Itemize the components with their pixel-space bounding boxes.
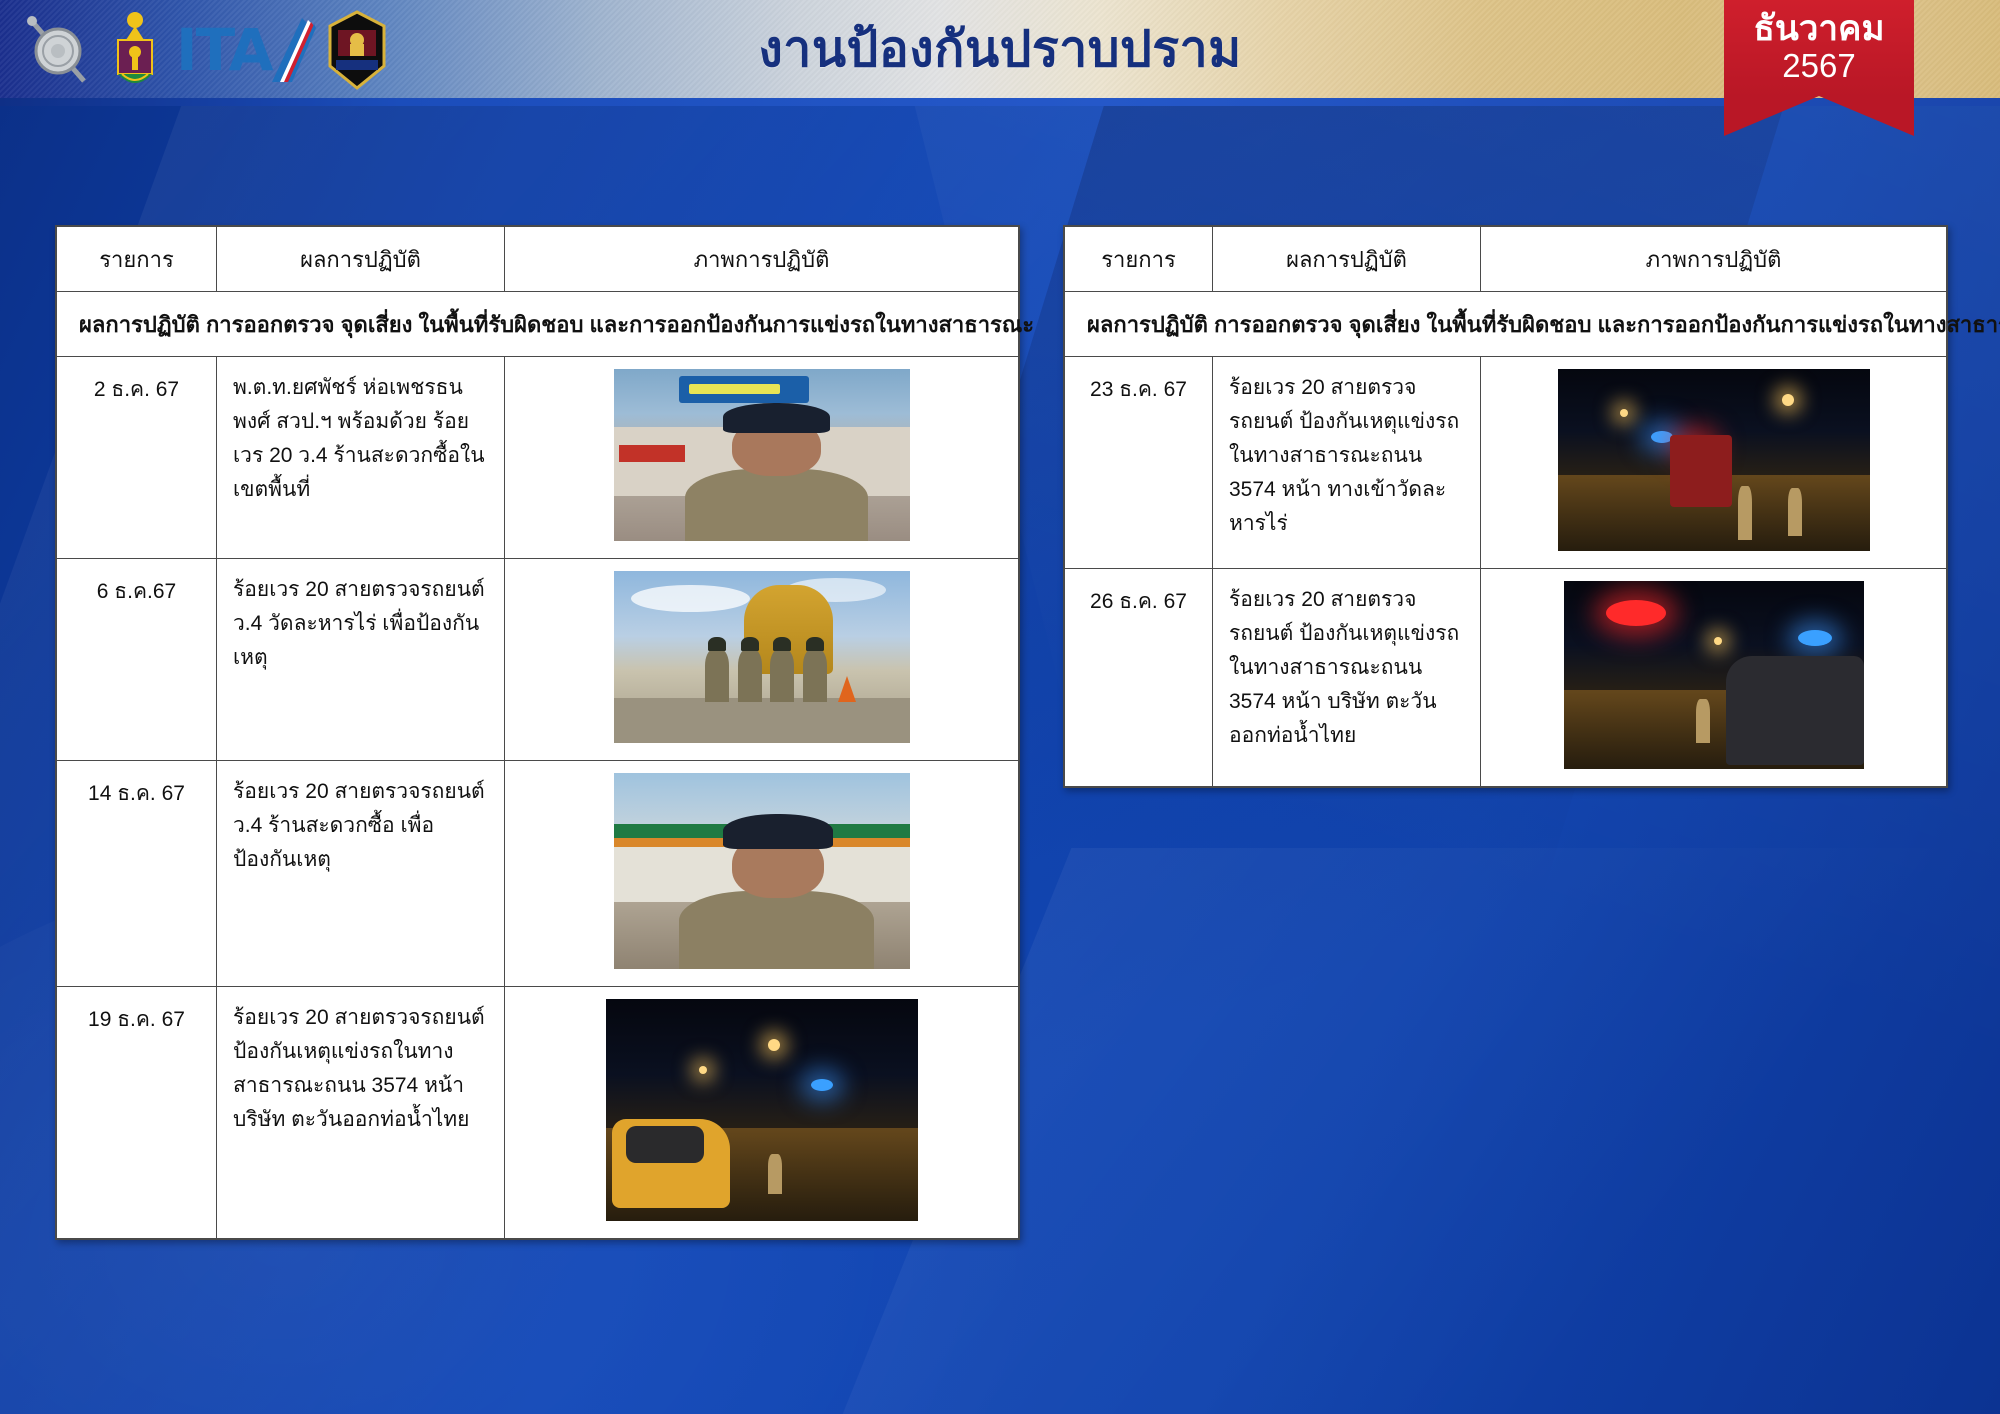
row-date: 2 ธ.ค. 67	[57, 357, 217, 559]
ribbon-tail	[1724, 96, 1914, 136]
table-row: 2 ธ.ค. 67 พ.ต.ท.ยศพัชร์ ห่อเพชรธนพงศ์ สว…	[57, 357, 1019, 559]
row-date: 6 ธ.ค.67	[57, 559, 217, 761]
column-header-result: ผลการปฏิบัติ	[217, 227, 505, 292]
ribbon-month: ธันวาคม	[1753, 11, 1884, 48]
table-subtitle-row: ผลการปฏิบัติ การออกตรวจ จุดเสี่ยง ในพื้น…	[1065, 292, 1947, 357]
ita-flag-icon	[258, 18, 316, 82]
row-date: 26 ธ.ค. 67	[1065, 569, 1213, 787]
table-row: 19 ธ.ค. 67 ร้อยเวร 20 สายตรวจรถยนต์ ป้อง…	[57, 987, 1019, 1239]
row-date: 19 ธ.ค. 67	[57, 987, 217, 1239]
photo-officers-at-golden-statue	[614, 571, 910, 743]
column-header-photo: ภาพการปฏิบัติ	[505, 227, 1019, 292]
row-detail: ร้อยเวร 20 สายตรวจรถยนต์ ว.4 วัดละหารไร่…	[217, 559, 505, 761]
table-row: 14 ธ.ค. 67 ร้อยเวร 20 สายตรวจรถยนต์ ว.4 …	[57, 761, 1019, 987]
row-detail: ร้อยเวร 20 สายตรวจรถยนต์ ป้องกันเหตุแข่ง…	[1213, 357, 1481, 569]
photo-convenience-store-selfie	[614, 773, 910, 969]
report-table-left: รายการ ผลการปฏิบัติ ภาพการปฏิบัติ ผลการป…	[55, 225, 1020, 1240]
police-station-badge-icon	[326, 10, 388, 90]
column-header-item: รายการ	[1065, 227, 1213, 292]
row-photo-cell	[505, 559, 1019, 761]
ribbon-year: 2567	[1782, 47, 1855, 85]
header-underline	[0, 98, 2000, 106]
row-detail: ร้อยเวร 20 สายตรวจรถยนต์ ว.4 ร้านสะดวกซื…	[217, 761, 505, 987]
photo-night-road-patrol-taxi	[606, 999, 918, 1221]
table-subtitle-text: ผลการปฏิบัติ การออกตรวจ จุดเสี่ยง ในพื้น…	[1065, 292, 1947, 357]
row-detail: ร้อยเวร 20 สายตรวจรถยนต์ ป้องกันเหตุแข่ง…	[1213, 569, 1481, 787]
row-photo-cell	[505, 357, 1019, 559]
row-date: 23 ธ.ค. 67	[1065, 357, 1213, 569]
row-photo-cell	[1481, 357, 1947, 569]
table-subtitle-row: ผลการปฏิบัติ การออกตรวจ จุดเสี่ยง ในพื้น…	[57, 292, 1019, 357]
photo-store-selfie-daylight	[614, 369, 910, 541]
table-row: 6 ธ.ค.67 ร้อยเวร 20 สายตรวจรถยนต์ ว.4 วั…	[57, 559, 1019, 761]
ita-logo: ITA	[176, 18, 316, 82]
photo-night-road-officers-firetruck	[1558, 369, 1870, 551]
row-photo-cell	[1481, 569, 1947, 787]
royal-thai-police-seal-icon	[22, 11, 94, 89]
row-date: 14 ธ.ค. 67	[57, 761, 217, 987]
garuda-emblem-icon	[104, 8, 166, 92]
column-header-item: รายการ	[57, 227, 217, 292]
table-header-row: รายการ ผลการปฏิบัติ ภาพการปฏิบัติ	[1065, 227, 1947, 292]
date-ribbon: ธันวาคม 2567	[1724, 0, 1914, 136]
column-header-result: ผลการปฏิบัติ	[1213, 227, 1481, 292]
table-row: 26 ธ.ค. 67 ร้อยเวร 20 สายตรวจรถยนต์ ป้อง…	[1065, 569, 1947, 787]
table-row: 23 ธ.ค. 67 ร้อยเวร 20 สายตรวจรถยนต์ ป้อง…	[1065, 357, 1947, 569]
row-detail: ร้อยเวร 20 สายตรวจรถยนต์ ป้องกันเหตุแข่ง…	[217, 987, 505, 1239]
logo-group: ITA	[22, 4, 388, 96]
table-header-row: รายการ ผลการปฏิบัติ ภาพการปฏิบัติ	[57, 227, 1019, 292]
date-ribbon-body: ธันวาคม 2567	[1724, 0, 1914, 96]
report-table-right: รายการ ผลการปฏิบัติ ภาพการปฏิบัติ ผลการป…	[1063, 225, 1948, 788]
table-subtitle-text: ผลการปฏิบัติ การออกตรวจ จุดเสี่ยง ในพื้น…	[57, 292, 1019, 357]
row-photo-cell	[505, 987, 1019, 1239]
column-header-photo: ภาพการปฏิบัติ	[1481, 227, 1947, 292]
row-photo-cell	[505, 761, 1019, 987]
row-detail: พ.ต.ท.ยศพัชร์ ห่อเพชรธนพงศ์ สวป.ฯ พร้อมด…	[217, 357, 505, 559]
photo-night-road-patrol-car	[1564, 581, 1864, 769]
